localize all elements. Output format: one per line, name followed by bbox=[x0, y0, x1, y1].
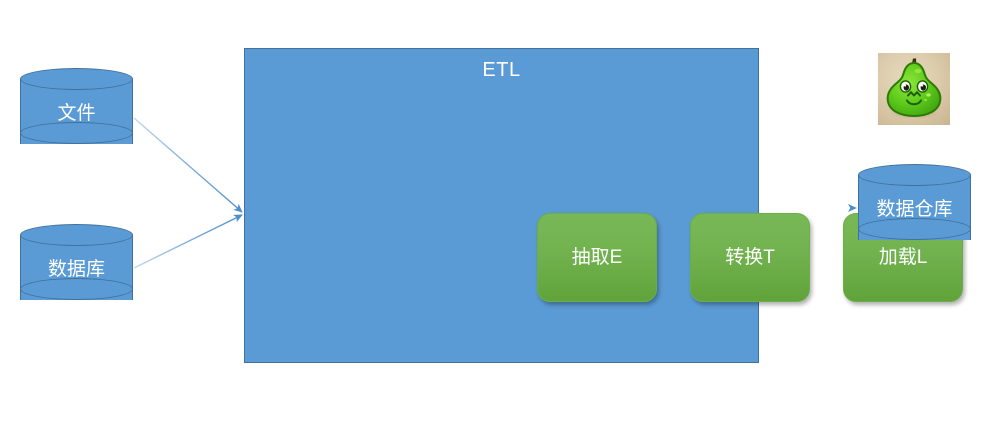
connector-file-to-etl bbox=[134, 118, 242, 212]
source-node-file[interactable]: 文件 bbox=[20, 68, 133, 155]
etl-process-title: ETL bbox=[245, 58, 758, 82]
diagram-canvas: 文件 数据库 ETL 抽取E 转换T 加载L 数据仓库 bbox=[0, 0, 997, 441]
stage-box-transform-label: 转换T bbox=[725, 247, 775, 269]
target-node-data-warehouse[interactable]: 数据仓库 bbox=[858, 164, 971, 251]
stage-box-transform[interactable]: 转换T bbox=[690, 213, 810, 302]
source-node-file-label: 文件 bbox=[20, 68, 133, 155]
target-node-data-warehouse-label: 数据仓库 bbox=[858, 164, 971, 251]
source-node-database[interactable]: 数据库 bbox=[20, 224, 133, 311]
stage-box-extract[interactable]: 抽取E bbox=[537, 213, 657, 302]
pear-mascot-icon bbox=[878, 53, 950, 125]
stage-box-extract-label: 抽取E bbox=[572, 247, 623, 269]
source-node-database-label: 数据库 bbox=[20, 224, 133, 311]
etl-process-box[interactable]: ETL 抽取E 转换T 加载L bbox=[244, 48, 759, 363]
connector-database-to-etl bbox=[134, 215, 242, 268]
